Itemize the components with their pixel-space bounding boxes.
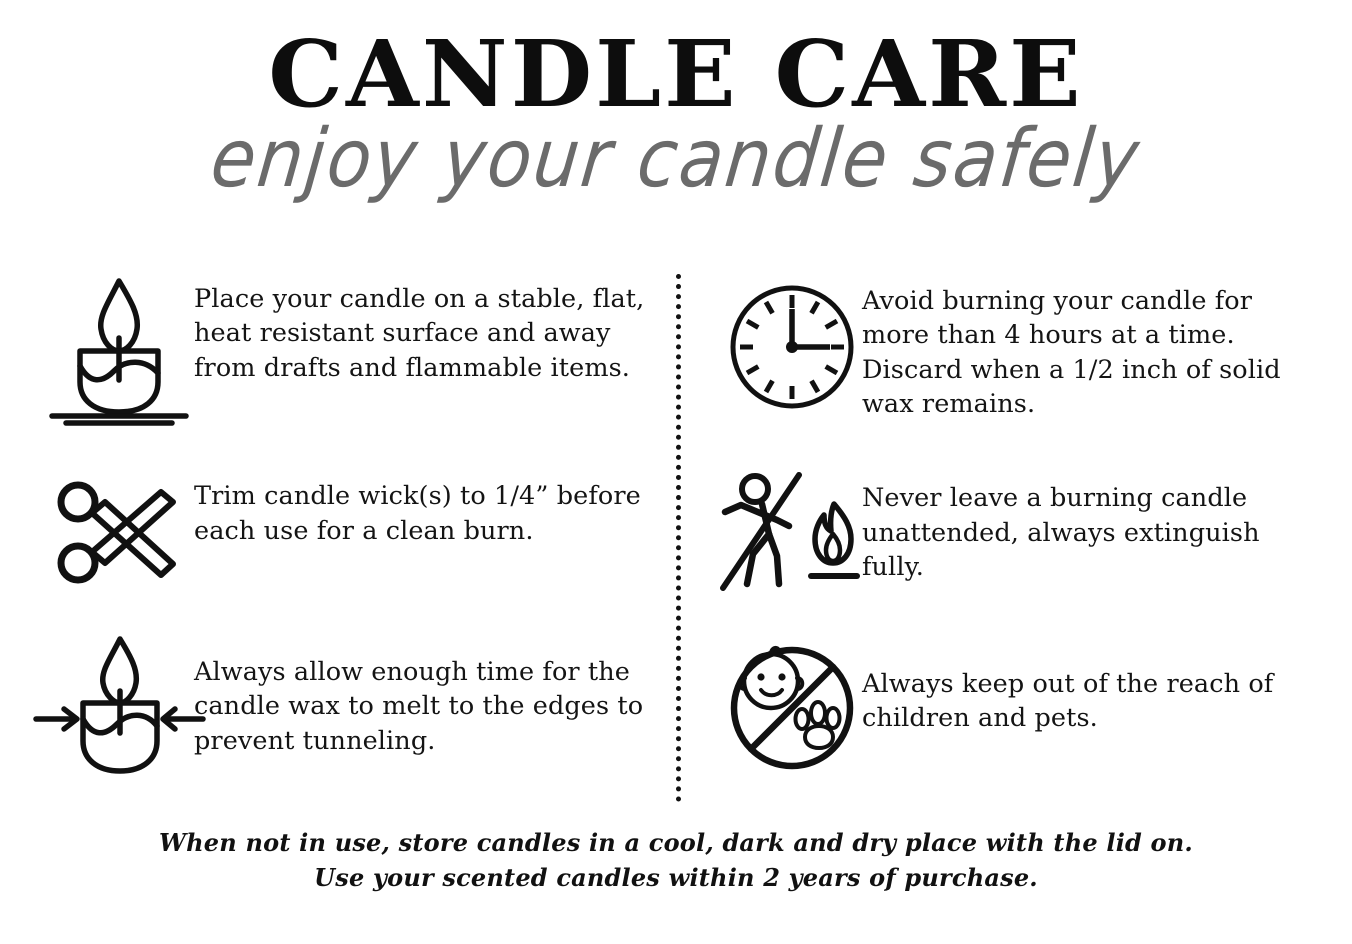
tips-container: Place your candle on a stable, flat, hea… [0,272,1352,804]
tip-item: Place your candle on a stable, flat, hea… [44,272,652,447]
footer-line-1: When not in use, store candles in a cool… [0,826,1352,861]
tip-item: Never leave a burning candle unattended,… [722,457,1312,623]
tip-item: Always keep out of the reach of children… [722,633,1312,794]
footer-line-2: Use your scented candles within 2 years … [0,861,1352,896]
candle-jar-on-surface-icon [44,272,194,422]
left-column: Place your candle on a stable, flat, hea… [0,272,676,804]
page-title: CANDLE CARE [0,28,1352,120]
tip-item: Always allow enough time for the candle … [44,633,652,794]
tip-text: Always allow enough time for the candle … [194,633,652,758]
footer: When not in use, store candles in a cool… [0,826,1352,896]
tip-text: Place your candle on a stable, flat, hea… [194,272,652,385]
clock-icon [722,272,862,422]
tip-text: Never leave a burning candle unattended,… [862,457,1312,584]
scissors-icon [44,457,194,607]
tip-item: Avoid burning your candle for more than … [722,272,1312,447]
tip-item: Trim candle wick(s) to 1/4” before each … [44,457,652,623]
right-column: Avoid burning your candle for more than … [676,272,1352,804]
candle-jar-with-arrows-icon [44,633,194,783]
tip-text: Always keep out of the reach of children… [862,633,1312,736]
page-subtitle: enjoy your candle safely [0,118,1352,199]
person-leaving-fire-icon [722,457,862,607]
header: CANDLE CARE enjoy your candle safely [0,28,1352,194]
no-children-pets-icon [722,633,862,783]
candle-care-infographic: CANDLE CARE enjoy your candle safely [0,0,1352,944]
tip-text: Avoid burning your candle for more than … [862,272,1312,422]
tip-text: Trim candle wick(s) to 1/4” before each … [194,457,652,548]
